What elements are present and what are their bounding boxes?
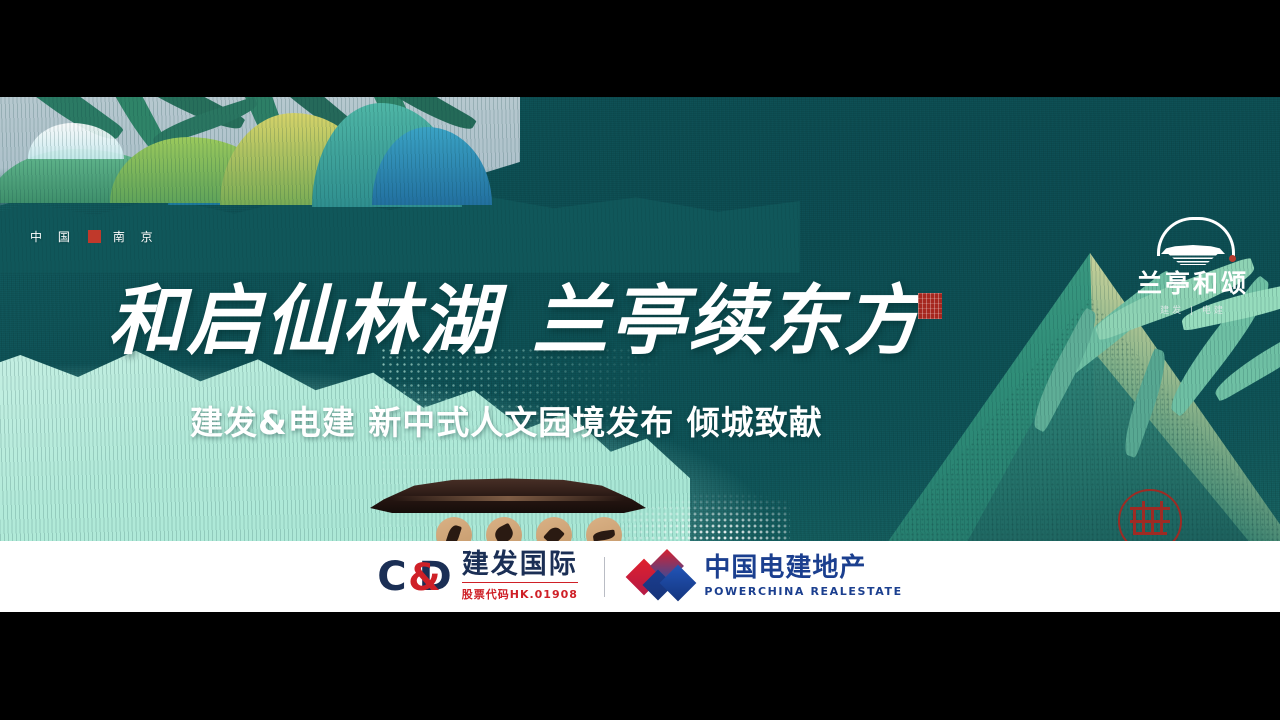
cd-stock-code: 股票代码HK.01908 [462, 582, 578, 602]
classical-landscape [0, 97, 460, 201]
cd-name-cn: 建发国际 [462, 551, 578, 579]
letterbox-top [0, 0, 1280, 97]
screen: 中 国 南 京 和启仙林湖兰亭续东方 建发&电建 新中式人文园境发布 倾城致献 … [0, 0, 1280, 720]
subheadline: 建发&电建 新中式人文园境发布 倾城致献 [190, 396, 823, 444]
location-country: 中 国 [30, 228, 76, 245]
powerchina-text-block: 中国电建地产 POWERCHINA REALESTATE [704, 555, 902, 598]
powerchina-name-en: POWERCHINA REALESTATE [704, 585, 902, 598]
pavilion-arch-icon [1143, 217, 1243, 263]
location-city: 南 京 [113, 228, 159, 245]
letterbox-bottom [0, 612, 1280, 720]
lacquer-boat-icon [370, 477, 646, 513]
headline-part2: 兰亭续东方 [532, 276, 922, 365]
brand-name: 兰亭和颂 [1128, 271, 1258, 296]
location-line: 中 国 南 京 [30, 228, 159, 245]
poster-artwork: 中 国 南 京 和启仙林湖兰亭续东方 建发&电建 新中式人文园境发布 倾城致献 … [0, 97, 1280, 541]
powerchina-logo: 中国电建地产 POWERCHINA REALESTATE [631, 554, 902, 600]
boat-highlight [392, 496, 624, 501]
footer-logo-bar: C D & 建发国际 股票代码HK.01908 中国电建地产 POWERCHIN… [0, 541, 1280, 612]
headline: 和启仙林湖兰亭续东方 [108, 283, 922, 359]
cd-text-block: 建发国际 股票代码HK.01908 [462, 551, 578, 602]
powerchina-name-cn: 中国电建地产 [704, 555, 902, 582]
red-square-icon [88, 230, 101, 243]
vertical-divider-icon [604, 557, 606, 597]
brand-logo: 兰亭和颂 建发 | 电建 [1128, 217, 1258, 316]
ampersand-icon: & [408, 559, 439, 596]
brand-subtitle: 建发 | 电建 [1128, 303, 1258, 316]
red-dot-icon [1229, 255, 1236, 262]
landscape-texture [0, 97, 460, 201]
cd-wordmark: C D & [377, 557, 450, 597]
headline-part1: 和启仙林湖 [108, 276, 498, 365]
red-square-seal-icon [918, 293, 942, 319]
water-lines-shape [1165, 254, 1221, 265]
diamond-rhombus-icon [631, 554, 693, 600]
cd-logo: C D & 建发国际 股票代码HK.01908 [377, 551, 578, 602]
